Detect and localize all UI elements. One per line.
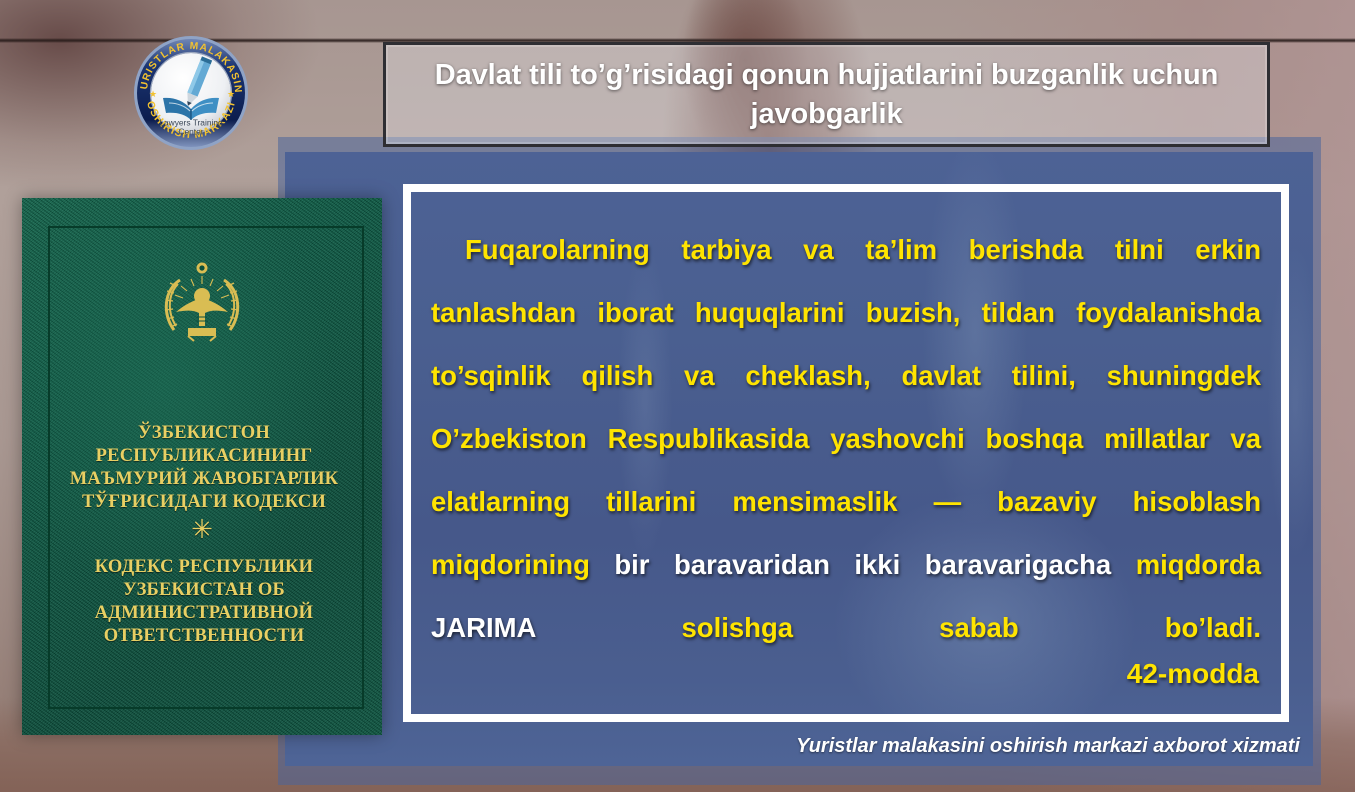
book-divider-star-icon: ✳ [22,516,382,542]
law-article-text: Fuqarolarning tarbiya va ta’lim berishda… [431,218,1261,659]
star-icon: ★ [149,89,157,99]
star-icon: ★ [227,89,235,99]
law-text-segment-2: miqdorda [1136,549,1261,580]
slide-canvas: YURISTLAR MALAKASINI OSHIRISH MARKAZI ★ … [0,0,1355,792]
article-reference: 42-modda [1127,658,1259,690]
law-text-box: Fuqarolarning tarbiya va ta’lim berishda… [403,184,1289,722]
footer-credit: Yuristlar malakasini oshirish markazi ax… [640,735,1300,758]
law-text-segment-4: solishga sabab bo’ladi. [682,612,1261,643]
law-code-book-cover: ЎЗБЕКИСТОН РЕСПУБЛИКАСИНИНГ МАЪМУРИЙ ЖАВ… [22,198,382,735]
organization-logo: YURISTLAR MALAKASINI OSHIRISH MARKAZI ★ … [133,35,249,151]
uzbekistan-coat-of-arms-icon [154,260,250,346]
law-text-segment-3: JARIMA [431,612,682,643]
logo-center-line2: Center [178,127,203,137]
law-text-segment-0: Fuqarolarning tarbiya va ta’lim berishda… [431,234,1261,580]
slide-title-plate: Davlat tili to’g’risidagi qonun hujjatla… [383,42,1270,147]
book-title-russian: КОДЕКС РЕСПУБЛИКИ УЗБЕКИСТАН ОБ АДМИНИСТ… [40,556,368,648]
book-title-uzbek: ЎЗБЕКИСТОН РЕСПУБЛИКАСИНИНГ МАЪМУРИЙ ЖАВ… [40,422,368,514]
law-text-segment-1: bir baravaridan ikki baravarigacha [614,549,1135,580]
page-title: Davlat tili to’g’risidagi qonun hujjatla… [386,56,1267,133]
